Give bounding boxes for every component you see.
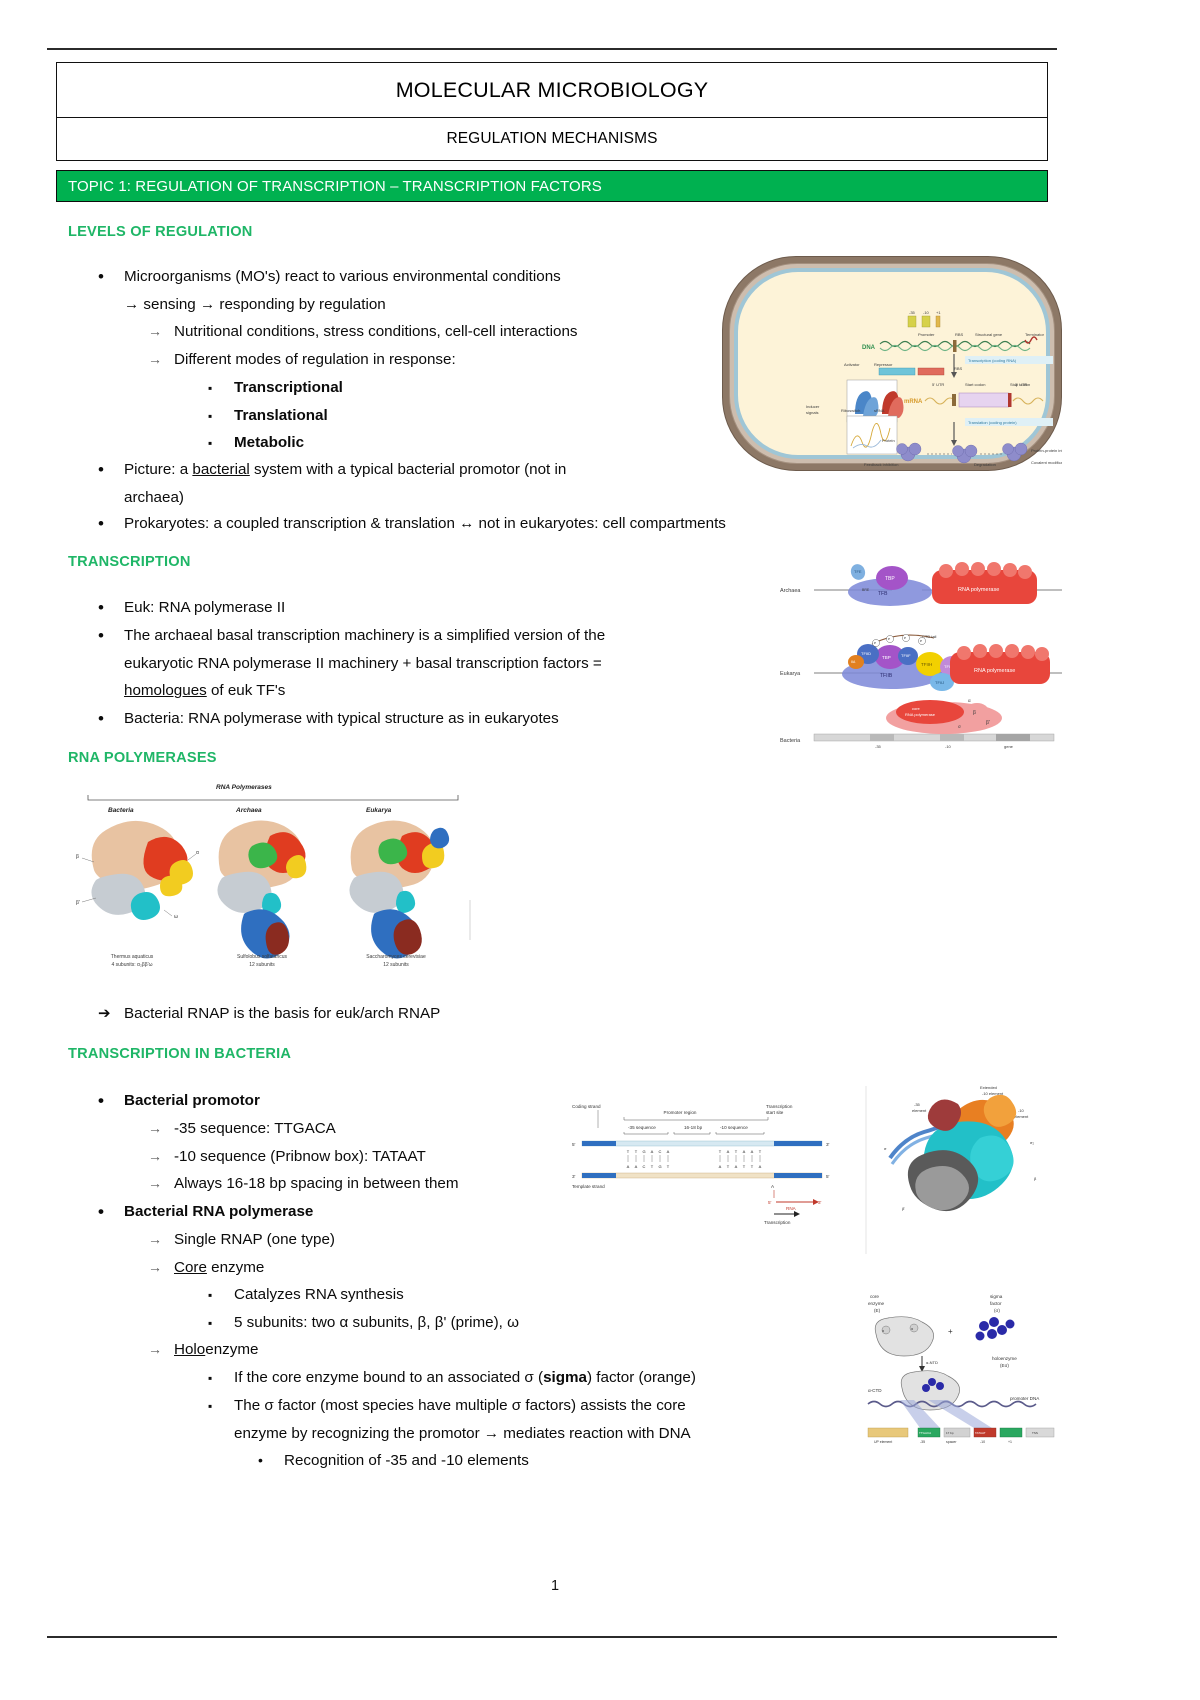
list-item-text-line2: eukaryotic RNA polymerase II machinery +… — [124, 655, 602, 672]
bullet-square-icon — [208, 1281, 234, 1310]
svg-text:RNA: RNA — [786, 1206, 797, 1211]
svg-text:-35: -35 — [875, 744, 882, 749]
list-item: Transcriptional — [208, 374, 343, 402]
svg-text:-10 sequence: -10 sequence — [720, 1125, 748, 1130]
arrow-right-icon — [148, 346, 174, 374]
svg-text:core: core — [870, 1294, 879, 1299]
list-item-subtext: → sensing → responding by regulation — [124, 296, 386, 313]
arrow-right-icon — [148, 1143, 174, 1171]
arrow-right-icon — [148, 318, 174, 346]
svg-text:3': 3' — [818, 1200, 822, 1205]
list-item: Nutritional conditions, stress condition… — [148, 318, 708, 346]
list-item: Single RNAP (one type) — [148, 1226, 335, 1254]
svg-text:(E): (E) — [874, 1308, 881, 1313]
svg-text:Archaea: Archaea — [235, 807, 262, 814]
svg-text:12 subunits: 12 subunits — [383, 962, 409, 968]
svg-text:Thermus aquaticus: Thermus aquaticus — [111, 954, 154, 960]
list-item-text-cont: ) factor (orange) — [587, 1369, 696, 1386]
svg-text:A: A — [727, 1149, 730, 1154]
bullet-square-icon — [208, 374, 234, 403]
svg-text:TATAAT: TATAAT — [975, 1431, 986, 1435]
svg-text:C: C — [659, 1149, 662, 1154]
list-item-emphasis: Holo — [174, 1341, 205, 1358]
bullet-dot-icon — [98, 1087, 124, 1116]
list-item-text: Single RNAP (one type) — [174, 1226, 335, 1254]
bullet-square-icon — [208, 429, 234, 458]
list-item-text-line2: archaea) — [124, 489, 184, 506]
svg-text:12 subunits: 12 subunits — [249, 962, 275, 968]
svg-text:+: + — [948, 1327, 953, 1336]
bullet-dot-icon — [98, 622, 124, 651]
bullet-dot-icon — [98, 594, 124, 623]
svg-text:A: A — [743, 1149, 746, 1154]
svg-text:TTGACA: TTGACA — [919, 1431, 931, 1435]
svg-text:spacer: spacer — [946, 1440, 957, 1444]
svg-text:P: P — [904, 636, 906, 640]
list-item: Bacterial promotor — [98, 1087, 260, 1115]
list-item-text: enzyme — [207, 1259, 264, 1276]
svg-text:Feedback inhibition: Feedback inhibition — [864, 462, 898, 467]
svg-text:-10: -10 — [1018, 1108, 1025, 1113]
svg-text:T: T — [651, 1164, 654, 1169]
list-item: Bacterial RNA polymerase — [98, 1198, 313, 1226]
list-item-text: Bacterial promotor — [124, 1087, 260, 1115]
svg-text:TFIIB: TFIIB — [880, 673, 893, 679]
svg-text:3': 3' — [572, 1174, 576, 1179]
svg-text:P: P — [874, 641, 876, 645]
list-item-text: enzyme — [205, 1341, 258, 1358]
svg-text:TFIIH: TFIIH — [921, 662, 932, 667]
svg-text:5' UTR: 5' UTR — [932, 382, 944, 387]
list-item-text-cont: system with a typical bacterial promotor… — [250, 461, 567, 478]
svg-text:promoter DNA: promoter DNA — [1010, 1396, 1040, 1401]
list-item: Picture: a bacterial system with a typic… — [98, 456, 678, 511]
heading-transcription: TRANSCRIPTION — [68, 554, 191, 570]
svg-text:Extended: Extended — [980, 1085, 997, 1090]
svg-text:P: P — [888, 637, 890, 641]
svg-text:σ₂: σ₂ — [1030, 1140, 1034, 1145]
svg-text:β': β' — [902, 1206, 905, 1211]
list-item: Always 16-18 bp spacing in between them — [148, 1170, 459, 1198]
svg-text:α: α — [882, 1329, 884, 1333]
bullet-dot-icon — [258, 1447, 284, 1475]
svg-text:mRNA: mRNA — [904, 399, 923, 405]
cell-contents-svg: -35-10+1 DNA Promoter RBS Structural gen… — [722, 256, 1062, 471]
svg-text:Degradation: Degradation — [974, 462, 996, 467]
svg-text:signals: signals — [806, 410, 818, 415]
list-item: Recognition of -35 and -10 elements — [258, 1447, 529, 1475]
svg-text:TFB: TFB — [878, 591, 888, 597]
holoenzyme-assembly-svg: coreenzyme(E) sigmafactor(σ) αα + — [862, 1288, 1062, 1458]
svg-text:α: α — [968, 698, 971, 703]
svg-text:α: α — [196, 850, 199, 856]
svg-text:Coding strand: Coding strand — [572, 1104, 601, 1109]
promoter-schematic-svg: Coding strand Promoter region Transcript… — [568, 1098, 838, 1238]
svg-text:enzyme: enzyme — [868, 1301, 885, 1306]
svg-text:IIA: IIA — [851, 660, 856, 664]
arrow-right-icon — [148, 1336, 174, 1364]
list-item-text: Bacteria: RNA polymerase with typical st… — [124, 705, 798, 733]
svg-text:Start codon: Start codon — [965, 382, 985, 387]
svg-text:TFE: TFE — [854, 569, 862, 574]
svg-text:Eukarya: Eukarya — [366, 807, 392, 814]
list-item: Prokaryotes: a coupled transcription & t… — [98, 510, 998, 538]
bullet-square-icon — [208, 402, 234, 431]
list-item-emphasis: bacterial — [192, 461, 249, 478]
page-title: MOLECULAR MICROBIOLOGY — [396, 78, 709, 103]
figure-holoenzyme-assembly: coreenzyme(E) sigmafactor(σ) αα + — [862, 1288, 1062, 1458]
list-item-text: Translational — [234, 402, 328, 430]
list-item-text: Prokaryotes: a coupled transcription & t… — [124, 510, 998, 538]
bullet-dot-icon — [98, 456, 124, 485]
list-item: 5 subunits: two α subunits, β, β' (prime… — [208, 1309, 519, 1337]
page-subtitle: REGULATION MECHANISMS — [446, 130, 657, 148]
arrow-right-icon — [148, 1254, 174, 1282]
arrow-right-icon — [148, 1170, 174, 1198]
svg-text:RNA polymerase: RNA polymerase — [905, 712, 936, 717]
list-item: Holoenzyme — [148, 1336, 258, 1364]
svg-text:4 subunits: α₂ββ'ω: 4 subunits: α₂ββ'ω — [111, 962, 152, 968]
document-title-box: MOLECULAR MICROBIOLOGY — [56, 62, 1048, 118]
list-item: Microorganisms (MO's) react to various e… — [98, 263, 698, 318]
list-item-emphasis: homologues — [124, 682, 207, 699]
svg-text:UP element: UP element — [874, 1440, 892, 1444]
svg-text:element: element — [912, 1108, 927, 1113]
svg-text:A: A — [719, 1164, 722, 1169]
svg-text:Riboswitch: Riboswitch — [841, 408, 860, 413]
list-item-text: Nutritional conditions, stress condition… — [174, 318, 708, 346]
list-item-text: Recognition of -35 and -10 elements — [284, 1447, 529, 1475]
heading-transcription-in-bacteria: TRANSCRIPTION IN BACTERIA — [68, 1046, 291, 1062]
list-item-text: -10 sequence (Pribnow box): TATAAT — [174, 1143, 426, 1171]
arrow-right-icon — [148, 1115, 174, 1143]
svg-text:α-CTD: α-CTD — [868, 1388, 882, 1393]
svg-text:Protein-protein interactions: Protein-protein interactions — [1031, 448, 1062, 453]
svg-text:sigma: sigma — [990, 1294, 1003, 1299]
figure-transcription-machinery-comparison: Archaea TFB TBP TFE BRE RNA polymerase — [772, 552, 1062, 757]
svg-text:T: T — [635, 1149, 638, 1154]
svg-text:-10: -10 — [980, 1440, 985, 1444]
svg-text:TFIID: TFIID — [861, 651, 871, 656]
svg-text:TFIIJ: TFIIJ — [935, 680, 944, 685]
svg-text:Promoter region: Promoter region — [664, 1110, 697, 1115]
list-item-text-line3: of euk TF's — [207, 682, 286, 699]
svg-text:RBS: RBS — [954, 366, 963, 371]
svg-text:Saccharomyces cerevisiae: Saccharomyces cerevisiae — [366, 954, 426, 960]
svg-text:start site: start site — [766, 1110, 784, 1115]
svg-text:Terminator: Terminator — [1025, 332, 1045, 337]
svg-text:T: T — [735, 1149, 738, 1154]
svg-text:α: α — [911, 1327, 913, 1331]
svg-text:σ: σ — [884, 1146, 887, 1151]
svg-text:Stop codon: Stop codon — [1010, 382, 1030, 387]
svg-text:Bacteria: Bacteria — [780, 738, 801, 744]
svg-text:sRNA: sRNA — [874, 408, 885, 413]
svg-text:T: T — [743, 1164, 746, 1169]
figure-rnap-sigma-structure: Extended-10 element -35element -10elemen… — [862, 1080, 1062, 1260]
svg-text:Transcription (coding RNA): Transcription (coding RNA) — [968, 358, 1017, 363]
arrow-right-icon — [148, 1226, 174, 1254]
page-top-rule — [47, 48, 1057, 50]
svg-text:A: A — [635, 1164, 638, 1169]
svg-text:RNA Polymerases: RNA Polymerases — [216, 784, 272, 791]
bullet-square-icon — [208, 1309, 234, 1338]
list-item-text: The archaeal basal transcription machine… — [124, 627, 605, 644]
list-item-text: -35 sequence: TTGACA — [174, 1115, 336, 1143]
list-item: Translational — [208, 402, 328, 430]
svg-text:-35: -35 — [909, 310, 916, 315]
arrow-bold-right-icon — [98, 1000, 124, 1028]
figure-bacterial-promoter-schematic: Coding strand Promoter region Transcript… — [568, 1098, 838, 1238]
topic-banner: TOPIC 1: REGULATION OF TRANSCRIPTION – T… — [56, 170, 1048, 202]
list-item: Different modes of regulation in respons… — [148, 346, 708, 374]
svg-text:Promoter: Promoter — [918, 332, 935, 337]
svg-text:A: A — [667, 1149, 670, 1154]
svg-text:A: A — [751, 1149, 754, 1154]
svg-text:Protein: Protein — [882, 438, 895, 443]
svg-text:ω: ω — [174, 914, 178, 920]
list-item-text: Always 16-18 bp spacing in between them — [174, 1170, 459, 1198]
svg-text:T: T — [759, 1149, 762, 1154]
svg-text:β': β' — [76, 900, 80, 906]
list-item-text: Catalyzes RNA synthesis — [234, 1281, 404, 1309]
list-item: Metabolic — [208, 429, 304, 457]
list-item-text: The σ factor (most species have multiple… — [234, 1397, 686, 1414]
svg-text:3': 3' — [826, 1142, 830, 1147]
svg-text:Transcription: Transcription — [764, 1220, 791, 1225]
list-item-emphasis: Core — [174, 1259, 207, 1276]
svg-text:-10: -10 — [923, 310, 930, 315]
svg-text:+1: +1 — [936, 310, 941, 315]
svg-text:Sulfolobus solfataricus: Sulfolobus solfataricus — [237, 954, 288, 960]
svg-text:-35 sequence: -35 sequence — [628, 1125, 656, 1130]
list-item-text: Transcriptional — [234, 374, 343, 402]
svg-text:RNA polymerase: RNA polymerase — [974, 668, 1015, 674]
svg-text:T: T — [751, 1164, 754, 1169]
svg-text:TBP: TBP — [885, 576, 895, 582]
list-item-text: Bacterial RNA polymerase — [124, 1198, 313, 1226]
document-subtitle-box: REGULATION MECHANISMS — [56, 117, 1048, 161]
svg-text:holoenzyme: holoenzyme — [992, 1356, 1017, 1361]
svg-text:A: A — [651, 1149, 654, 1154]
list-item-text: Different modes of regulation in respons… — [174, 346, 708, 374]
transcription-machinery-svg: Archaea TFB TBP TFE BRE RNA polymerase — [772, 552, 1062, 757]
bullet-dot-icon — [98, 705, 124, 734]
list-item: -35 sequence: TTGACA — [148, 1115, 336, 1143]
svg-text:core: core — [912, 706, 921, 711]
list-item: The σ factor (most species have multiple… — [208, 1392, 868, 1447]
topic-banner-label: TOPIC 1: REGULATION OF TRANSCRIPTION – T… — [57, 178, 602, 195]
svg-text:-10: -10 — [945, 744, 952, 749]
list-item: The archaeal basal transcription machine… — [98, 622, 738, 705]
list-item: If the core enzyme bound to an associate… — [208, 1364, 888, 1392]
list-item: Catalyzes RNA synthesis — [208, 1281, 404, 1309]
svg-text:T: T — [627, 1149, 630, 1154]
heading-levels-of-regulation: LEVELS OF REGULATION — [68, 224, 253, 240]
svg-text:Structural gene: Structural gene — [975, 332, 1003, 337]
svg-text:Repressor: Repressor — [874, 362, 893, 367]
svg-text:factor: factor — [990, 1301, 1002, 1306]
svg-text:β: β — [973, 710, 976, 716]
svg-text:-35: -35 — [920, 1440, 925, 1444]
svg-text:5': 5' — [826, 1174, 830, 1179]
list-item-text: Picture: a — [124, 461, 192, 478]
svg-text:TFIIF: TFIIF — [901, 653, 911, 658]
svg-text:T: T — [667, 1164, 670, 1169]
svg-text:5': 5' — [768, 1200, 772, 1205]
svg-text:β: β — [1034, 1176, 1037, 1181]
list-item-conclusion: Bacterial RNAP is the basis for euk/arch… — [98, 1000, 698, 1028]
list-item-emphasis: sigma — [543, 1369, 587, 1386]
svg-text:Bacteria: Bacteria — [108, 807, 134, 814]
list-item-text: If the core enzyme bound to an associate… — [234, 1369, 543, 1386]
list-item-text: 5 subunits: two α subunits, β, β' (prime… — [234, 1309, 519, 1337]
svg-text:A: A — [771, 1184, 775, 1189]
svg-text:β: β — [76, 854, 79, 860]
svg-text:Inducer: Inducer — [806, 404, 820, 409]
bullet-square-icon — [208, 1364, 234, 1393]
bullet-square-icon — [208, 1392, 234, 1421]
svg-text:RNA polymerase: RNA polymerase — [958, 587, 999, 593]
list-item: Bacteria: RNA polymerase with typical st… — [98, 705, 798, 733]
svg-text:RBS: RBS — [955, 332, 964, 337]
list-item: -10 sequence (Pribnow box): TATAAT — [148, 1143, 426, 1171]
list-item-text: Microorganisms (MO's) react to various e… — [124, 268, 561, 285]
list-item: Core enzyme — [148, 1254, 264, 1282]
figure-bacterial-cell-regulation: -35-10+1 DNA Promoter RBS Structural gen… — [722, 256, 1062, 471]
svg-text:(Eσ): (Eσ) — [1000, 1363, 1009, 1368]
svg-text:TSS: TSS — [1032, 1431, 1038, 1435]
svg-text:TBP: TBP — [882, 655, 891, 660]
bullet-dot-icon — [98, 510, 124, 539]
svg-text:Archaea: Archaea — [780, 588, 801, 594]
svg-text:DNA: DNA — [862, 345, 876, 351]
list-item-text: Bacterial RNAP is the basis for euk/arch… — [124, 1000, 698, 1028]
document-page: MOLECULAR MICROBIOLOGY REGULATION MECHAN… — [0, 0, 1200, 1700]
rna-polymerase-structures-svg: RNA Polymerases Bacteria Archaea Eukarya — [66, 780, 478, 980]
svg-text:G: G — [658, 1164, 661, 1169]
svg-text:α-NTD: α-NTD — [926, 1360, 938, 1365]
svg-text:-35: -35 — [914, 1102, 921, 1107]
svg-text:A: A — [735, 1164, 738, 1169]
svg-text:Eukarya: Eukarya — [780, 671, 801, 677]
list-item-text: Euk: RNA polymerase II — [124, 594, 698, 622]
figure-rna-polymerase-structures: RNA Polymerases Bacteria Archaea Eukarya — [66, 780, 478, 980]
svg-text:Transcription: Transcription — [766, 1104, 793, 1109]
svg-text:Template strand: Template strand — [572, 1184, 605, 1189]
svg-text:element: element — [1014, 1114, 1029, 1119]
svg-text:G: G — [642, 1149, 645, 1154]
svg-text:Translation (coding protein): Translation (coding protein) — [968, 420, 1017, 425]
list-item-text: Metabolic — [234, 429, 304, 457]
svg-text:T: T — [719, 1149, 722, 1154]
svg-text:BRE: BRE — [862, 588, 870, 592]
svg-text:A: A — [627, 1164, 630, 1169]
svg-text:Activator: Activator — [844, 362, 860, 367]
svg-text:Covalent modification: Covalent modification — [1031, 460, 1062, 465]
svg-text:P: P — [920, 639, 922, 643]
svg-text:17 bp: 17 bp — [946, 1431, 954, 1435]
svg-text:A: A — [759, 1164, 762, 1169]
svg-text:β': β' — [986, 720, 990, 726]
svg-text:C: C — [643, 1164, 646, 1169]
svg-text:gene: gene — [1004, 744, 1014, 749]
heading-rna-polymerases: RNA POLYMERASES — [68, 750, 217, 766]
page-bottom-rule — [47, 1636, 1057, 1638]
page-number: 1 — [0, 1578, 1110, 1594]
svg-text:5': 5' — [572, 1142, 576, 1147]
list-item-text-line2: enzyme by recognizing the promotor → med… — [234, 1425, 691, 1442]
svg-text:σ: σ — [958, 724, 961, 729]
svg-text:T: T — [727, 1164, 730, 1169]
list-item: Euk: RNA polymerase II — [98, 594, 698, 622]
svg-text:16-18 bp: 16-18 bp — [684, 1125, 703, 1130]
rnap-sigma-structure-svg: Extended-10 element -35element -10elemen… — [862, 1080, 1062, 1260]
svg-text:(σ): (σ) — [994, 1308, 1000, 1313]
svg-text:+1: +1 — [1008, 1440, 1012, 1444]
bullet-dot-icon — [98, 1198, 124, 1227]
bullet-dot-icon — [98, 263, 124, 292]
